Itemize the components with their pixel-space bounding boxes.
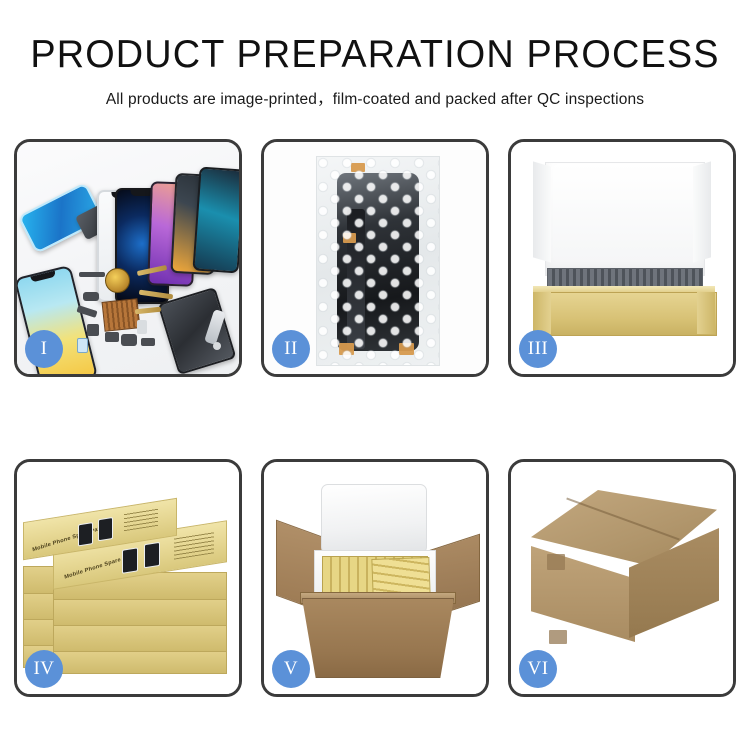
carton-tape bbox=[549, 630, 567, 644]
process-step-panel-4[interactable]: Mobile Phone Spare Parts Mobile Phone Sp… bbox=[14, 459, 242, 697]
carton-tape bbox=[547, 554, 565, 570]
step-badge-2: II bbox=[272, 330, 310, 368]
step-badge-4: IV bbox=[25, 650, 63, 688]
phone-backplate-icon bbox=[157, 287, 236, 374]
carton-body bbox=[302, 598, 454, 678]
step-badge-5: V bbox=[272, 650, 310, 688]
stacked-box bbox=[53, 624, 227, 652]
phone-display-teal-icon bbox=[192, 167, 239, 274]
spare-part-icon bbox=[83, 292, 99, 301]
spare-part-icon bbox=[121, 334, 137, 346]
notch-icon bbox=[30, 271, 56, 283]
bubble-wrap-bag bbox=[316, 156, 440, 366]
process-step-panel-2[interactable]: II bbox=[261, 139, 489, 377]
screw-icon bbox=[213, 342, 221, 350]
page-subtitle: All products are image-printed，film-coat… bbox=[0, 87, 750, 109]
box-base-yellow bbox=[533, 292, 717, 336]
process-step-panel-3[interactable]: III bbox=[508, 139, 736, 377]
box-lid-phone-graphic bbox=[78, 522, 93, 546]
box-fold-left bbox=[533, 292, 551, 334]
spare-part-icon bbox=[141, 338, 155, 346]
box-lid-phone-graphic bbox=[144, 542, 160, 569]
flex-cable-icon bbox=[135, 307, 161, 315]
logic-board-icon bbox=[102, 298, 141, 332]
styrofoam-lid bbox=[321, 484, 427, 554]
box-lid-spec-lines bbox=[124, 508, 158, 531]
box-fold-right bbox=[697, 292, 715, 334]
box-lid-flap-left bbox=[533, 161, 551, 262]
step-badge-3: III bbox=[519, 330, 557, 368]
process-step-panel-1[interactable]: I bbox=[14, 139, 242, 377]
box-lid-phone-graphic bbox=[122, 547, 138, 574]
box-lid-phone-graphic bbox=[98, 517, 113, 541]
stacked-box bbox=[53, 598, 227, 626]
box-lid-flap-right bbox=[693, 161, 711, 262]
spare-part-icon bbox=[87, 324, 99, 336]
spare-part-icon bbox=[137, 320, 147, 334]
wireless-coil-icon bbox=[105, 268, 130, 293]
box-lid-spec-lines bbox=[174, 531, 214, 559]
spare-part-icon bbox=[79, 272, 105, 277]
spare-part-icon bbox=[105, 332, 119, 342]
process-step-panel-6[interactable]: VI bbox=[508, 459, 736, 697]
process-step-grid: I II III bbox=[14, 139, 736, 697]
stacked-box bbox=[53, 650, 227, 674]
yellow-boxes-inside bbox=[371, 557, 430, 597]
spare-part-icon bbox=[77, 338, 88, 353]
page-header: PRODUCT PREPARATION PROCESS All products… bbox=[0, 0, 750, 109]
page-title: PRODUCT PREPARATION PROCESS bbox=[11, 34, 739, 75]
box-lid-white bbox=[545, 162, 705, 276]
step-badge-1: I bbox=[25, 330, 63, 368]
step-badge-6: VI bbox=[519, 650, 557, 688]
bubble-texture bbox=[317, 157, 439, 365]
process-step-panel-5[interactable]: V bbox=[261, 459, 489, 697]
